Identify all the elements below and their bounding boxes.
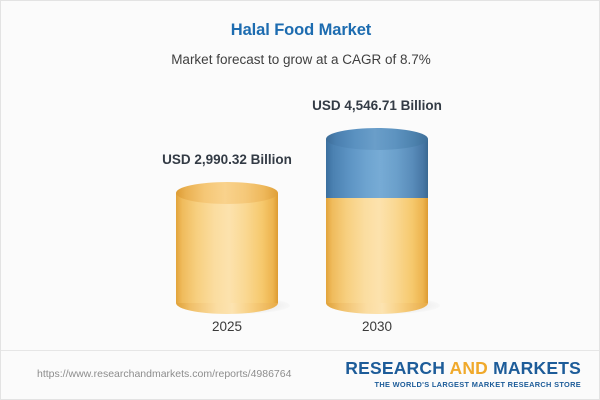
logo-tagline: THE WORLD'S LARGEST MARKET RESEARCH STOR… (345, 380, 581, 389)
cylinder-top-cap-2030 (326, 128, 428, 150)
research-and-markets-logo[interactable]: RESEARCH AND MARKETS THE WORLD'S LARGEST… (345, 360, 581, 389)
category-label-2025: 2025 (212, 319, 242, 334)
logo-word-markets: MARKETS (493, 358, 581, 378)
bar-value-label-2025: USD 2,990.32 Billion (162, 152, 292, 167)
source-url-link[interactable]: https://www.researchandmarkets.com/repor… (37, 368, 291, 380)
logo-word-and: AND (449, 358, 488, 378)
logo-wordmark: RESEARCH AND MARKETS (345, 360, 581, 378)
chart-plot-area: USD 2,990.32 Billion 2025 USD 4,546.71 B… (1, 1, 600, 349)
footer-divider (1, 350, 600, 351)
bar-value-label-2030: USD 4,546.71 Billion (312, 98, 442, 113)
cylinder-wall-2025 (176, 193, 278, 303)
cylinder-top-cap-2025 (176, 182, 278, 204)
cylinder-2025 (176, 182, 278, 308)
bar-group-2030: USD 4,546.71 Billion 2030 (326, 1, 428, 349)
category-label-2030: 2030 (362, 319, 392, 334)
logo-word-research: RESEARCH (345, 358, 445, 378)
bar-group-2025: USD 2,990.32 Billion 2025 (176, 1, 278, 349)
cylinder-2030 (326, 128, 428, 308)
cylinder-wall-base-2030 (326, 197, 428, 303)
chart-card: Halal Food Market Market forecast to gro… (0, 0, 600, 400)
